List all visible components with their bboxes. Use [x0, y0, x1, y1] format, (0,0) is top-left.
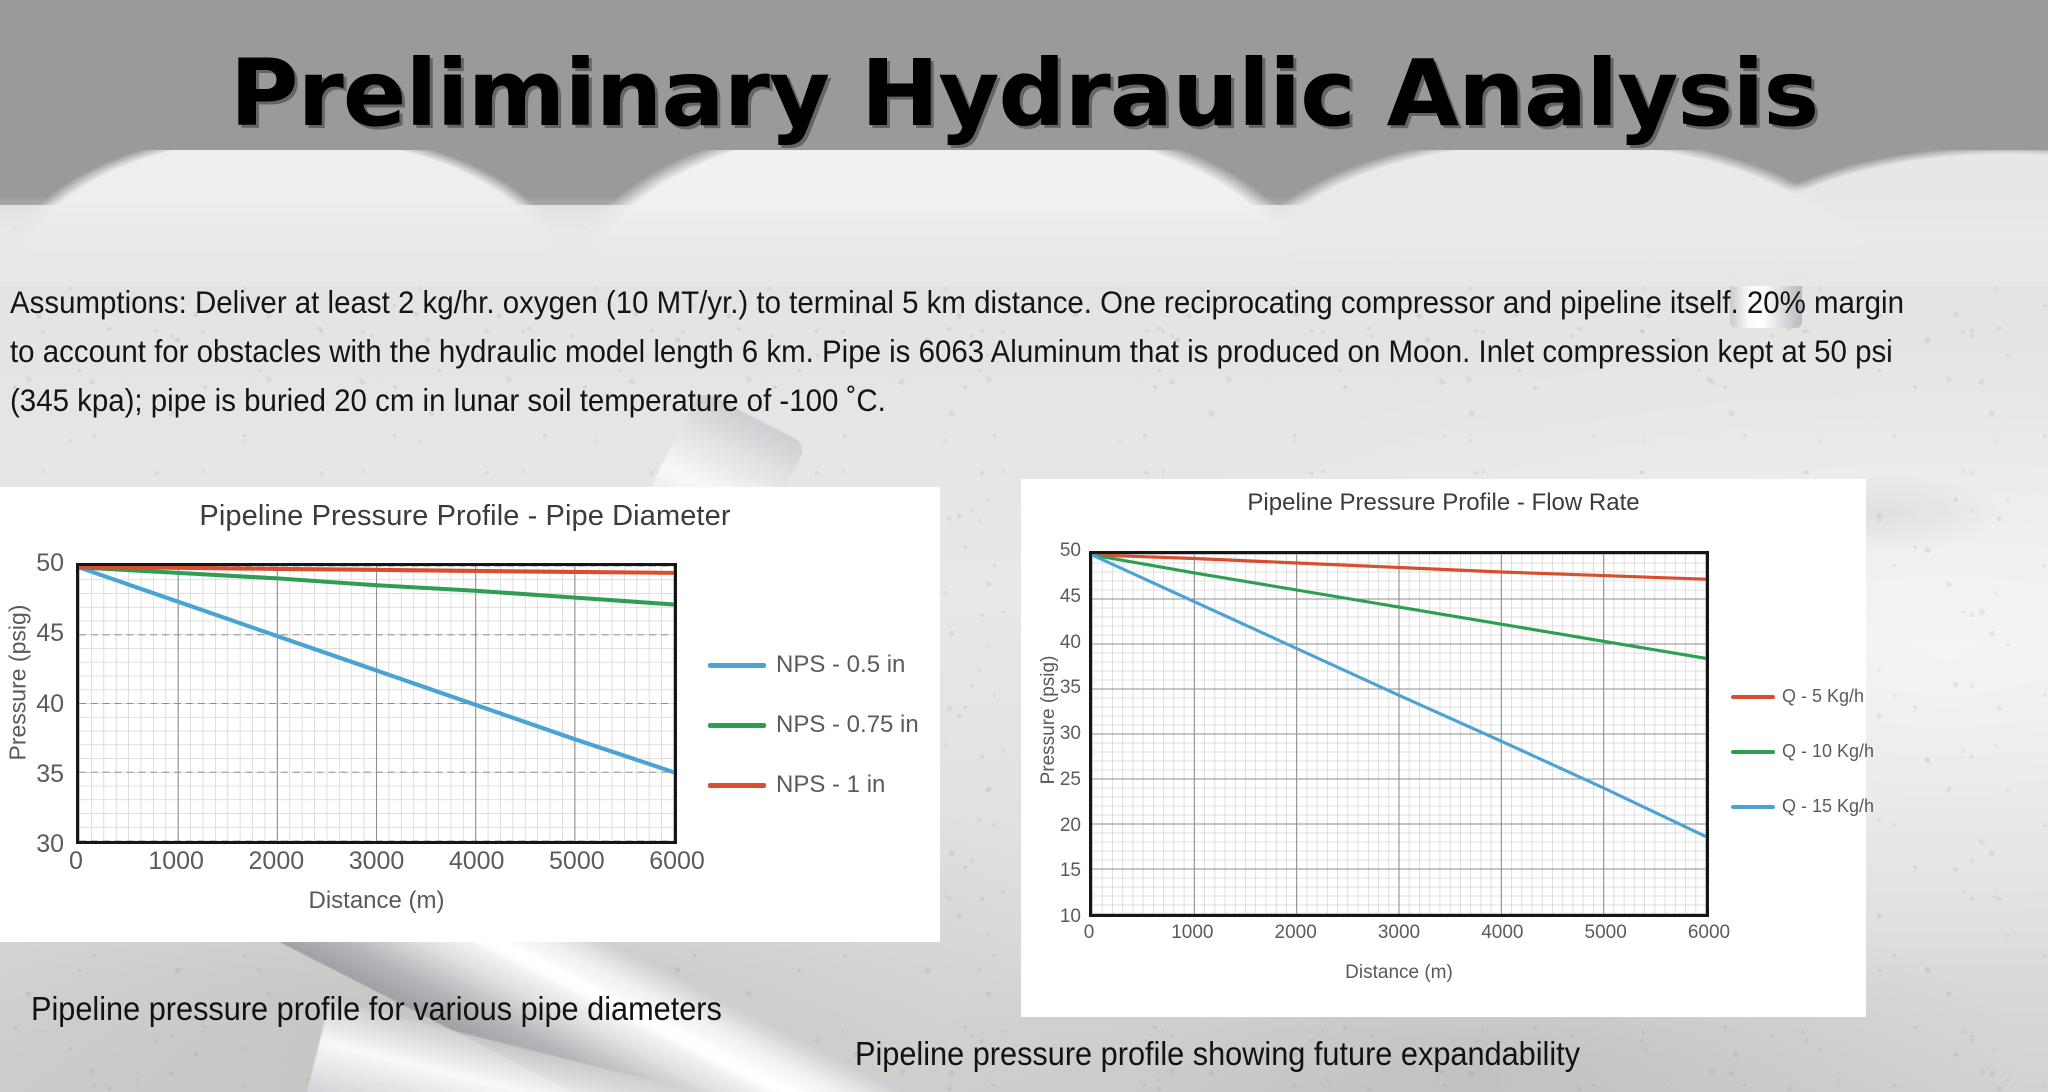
legend-flow-rate: Q - 5 Kg/hQ - 10 Kg/hQ - 15 Kg/h — [1731, 669, 1874, 834]
y-axis-tick-pipe-diameter: 35 — [6, 760, 64, 789]
y-axis-tick-pipe-diameter: 50 — [6, 549, 64, 578]
soil-ridge-shadow — [0, 196, 2048, 286]
x-axis-tick-flow-rate: 4000 — [1457, 922, 1547, 944]
legend-item[interactable]: Q - 5 Kg/h — [1731, 669, 1874, 724]
x-axis-tick-flow-rate: 3000 — [1354, 922, 1444, 944]
legend-item-label: NPS - 0.5 in — [776, 651, 905, 679]
plot-area-pipe-diameter — [76, 563, 677, 844]
y-axis-tick-flow-rate: 30 — [1035, 723, 1081, 745]
legend-item[interactable]: Q - 10 Kg/h — [1731, 724, 1874, 779]
legend-color-swatch — [1731, 750, 1775, 754]
legend-item[interactable]: NPS - 0.75 in — [708, 695, 919, 755]
legend-pipe-diameter: NPS - 0.5 inNPS - 0.75 inNPS - 1 in — [708, 635, 919, 815]
chart-card-flow-rate: Pipeline Pressure Profile - Flow Rate Pr… — [1021, 479, 1866, 1017]
caption-left: Pipeline pressure profile for various pi… — [31, 990, 722, 1028]
y-axis-tick-pipe-diameter: 45 — [6, 619, 64, 648]
x-axis-label-right: Distance (m) — [1089, 962, 1709, 984]
legend-item-label: NPS - 1 in — [776, 771, 885, 799]
y-axis-tick-flow-rate: 50 — [1035, 540, 1081, 562]
plot-canvas-right — [1092, 554, 1706, 914]
page-title: Preliminary Hydraulic Analysis — [0, 48, 2048, 140]
x-axis-tick-flow-rate: 1000 — [1147, 922, 1237, 944]
legend-color-swatch — [1731, 695, 1775, 699]
x-axis-tick-flow-rate: 2000 — [1251, 922, 1341, 944]
x-axis-tick-pipe-diameter: 3000 — [322, 847, 432, 876]
legend-item[interactable]: NPS - 0.5 in — [708, 635, 919, 695]
chart-title-pipe-diameter: Pipeline Pressure Profile - Pipe Diamete… — [0, 500, 940, 533]
legend-item-label: NPS - 0.75 in — [776, 711, 919, 739]
legend-item-label: Q - 10 Kg/h — [1782, 741, 1874, 762]
legend-color-swatch — [708, 783, 766, 788]
legend-item[interactable]: NPS - 1 in — [708, 755, 919, 815]
x-axis-tick-flow-rate: 5000 — [1561, 922, 1651, 944]
legend-color-swatch — [708, 723, 766, 728]
chart-card-pipe-diameter: Pipeline Pressure Profile - Pipe Diamete… — [0, 487, 940, 942]
x-axis-tick-pipe-diameter: 1000 — [121, 847, 231, 876]
slide-canvas: Preliminary Hydraulic Analysis Assumptio… — [0, 0, 2048, 1092]
plot-area-flow-rate — [1089, 551, 1709, 917]
x-axis-tick-flow-rate: 0 — [1044, 922, 1134, 944]
x-axis-tick-flow-rate: 6000 — [1664, 922, 1754, 944]
x-axis-label-left: Distance (m) — [76, 887, 677, 915]
y-axis-tick-flow-rate: 40 — [1035, 632, 1081, 654]
assumptions-paragraph: Assumptions: Deliver at least 2 kg/hr. o… — [10, 278, 1908, 425]
y-axis-tick-pipe-diameter: 40 — [6, 690, 64, 719]
legend-item-label: Q - 5 Kg/h — [1782, 686, 1864, 707]
x-axis-tick-pipe-diameter: 4000 — [422, 847, 532, 876]
legend-item[interactable]: Q - 15 Kg/h — [1731, 779, 1874, 834]
y-axis-tick-flow-rate: 35 — [1035, 677, 1081, 699]
x-axis-tick-pipe-diameter: 0 — [21, 847, 131, 876]
x-axis-tick-pipe-diameter: 5000 — [522, 847, 632, 876]
x-axis-tick-pipe-diameter: 2000 — [221, 847, 331, 876]
legend-color-swatch — [1731, 805, 1775, 809]
x-axis-tick-pipe-diameter: 6000 — [622, 847, 732, 876]
chart-title-flow-rate: Pipeline Pressure Profile - Flow Rate — [1021, 489, 1866, 517]
caption-right: Pipeline pressure profile showing future… — [855, 1035, 1580, 1073]
y-axis-tick-flow-rate: 25 — [1035, 769, 1081, 791]
legend-color-swatch — [708, 663, 766, 668]
y-axis-tick-flow-rate: 45 — [1035, 586, 1081, 608]
y-axis-tick-flow-rate: 15 — [1035, 860, 1081, 882]
y-axis-tick-flow-rate: 20 — [1035, 815, 1081, 837]
plot-canvas-left — [79, 566, 674, 841]
legend-item-label: Q - 15 Kg/h — [1782, 796, 1874, 817]
